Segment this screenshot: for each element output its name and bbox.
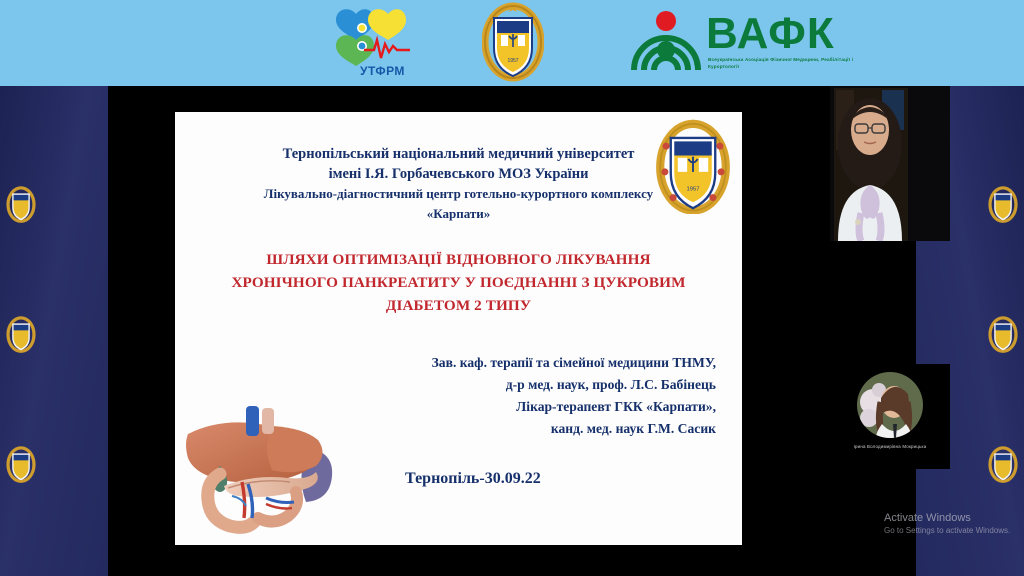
watermark-title: Activate Windows	[884, 511, 1024, 525]
slide-date: Тернопіль-30.09.22	[405, 470, 541, 488]
university-crest-watermark	[988, 446, 1018, 484]
university-crest-logo: 1957	[482, 2, 544, 84]
slide-organization-header: Тернопільський національний медичний уні…	[175, 144, 742, 224]
main-speaker-frame	[830, 86, 950, 241]
university-crest-watermark	[988, 316, 1018, 354]
vafk-registered-icon: ®	[694, 62, 698, 68]
university-crest-icon: 1957	[482, 2, 544, 84]
author-line-3: Лікар-терапевт ГКК «Карпати»,	[376, 396, 716, 418]
author-line-1: Зав. каф. терапії та сімейної медицини Т…	[376, 352, 716, 374]
vafk-logo: ВАФК ® Всеукраїнська Асоціація Фізичної …	[628, 8, 858, 78]
left-decorative-panel	[0, 86, 108, 576]
activate-windows-watermark: Activate Windows Go to Settings to activ…	[884, 511, 1024, 536]
screen-root: УТФРМ 1957	[0, 0, 1024, 576]
conference-banner: УТФРМ 1957	[0, 0, 1024, 86]
utfrm-logo: УТФРМ	[318, 6, 428, 82]
vafk-target-icon	[628, 10, 704, 76]
liver-pancreas-anatomy-illustration	[180, 400, 360, 540]
author-line-4: канд. мед. наук Г.М. Сасик	[376, 418, 716, 440]
title-line-3: ДІАБЕТОМ 2 ТИПУ	[193, 294, 724, 317]
title-line-2: ХРОНІЧНОГО ПАНКРЕАТИТУ У ПОЄДНАННІ З ЦУК…	[193, 271, 724, 294]
main-speaker-video[interactable]	[830, 86, 950, 241]
slide-authors: Зав. каф. терапії та сімейної медицини Т…	[376, 352, 716, 440]
university-crest-watermark	[6, 446, 36, 484]
slide-title: ШЛЯХИ ОПТИМІЗАЦІЇ ВІДНОВНОГО ЛІКУВАННЯ Х…	[193, 248, 724, 317]
org-line-4: «Карпати»	[175, 204, 742, 224]
org-line-2: імені І.Я. Горбачевського МОЗ України	[175, 164, 742, 184]
vafk-wordmark: ВАФК	[706, 12, 835, 56]
presentation-slide[interactable]: 1957 Тернопільський національний медични…	[175, 112, 742, 545]
university-crest-watermark	[6, 316, 36, 354]
participant-tile[interactable]: Ірина Володимирівна Мокрицька	[830, 364, 950, 469]
watermark-subtitle: Go to Settings to activate Windows.	[884, 525, 1024, 536]
avatar	[857, 372, 923, 438]
university-crest-watermark	[6, 186, 36, 224]
participant-name-label: Ірина Володимирівна Мокрицька	[830, 444, 950, 449]
utfrm-logo-label: УТФРМ	[360, 64, 405, 78]
org-line-1: Тернопільський національний медичний уні…	[175, 144, 742, 164]
title-line-1: ШЛЯХИ ОПТИМІЗАЦІЇ ВІДНОВНОГО ЛІКУВАННЯ	[193, 248, 724, 271]
university-crest-watermark	[988, 186, 1018, 224]
vafk-subtitle: Всеукраїнська Асоціація Фізичної Медицин…	[708, 56, 858, 70]
org-line-3: Лікувально-діагностичний центр готельно-…	[175, 184, 742, 204]
author-line-2: д-р мед. наук, проф. Л.С. Бабінець	[376, 374, 716, 396]
svg-text:1957: 1957	[507, 58, 518, 64]
